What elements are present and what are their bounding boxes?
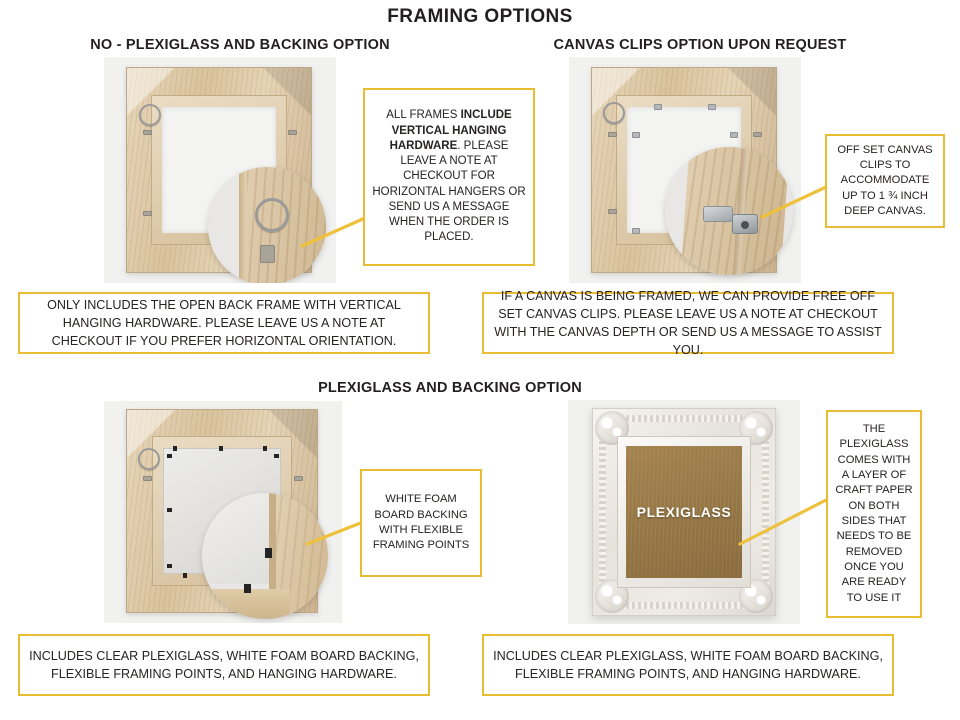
section-heading-no-plexiglass: NO - PLEXIGLASS AND BACKING OPTION (30, 37, 450, 53)
hardware-tab-icon (143, 476, 152, 481)
callout-white-foam-board: WHITE FOAM BOARD BACKING WITH FLEXIBLE F… (360, 469, 482, 577)
hardware-tab-icon (143, 211, 152, 216)
hardware-tab-icon (608, 132, 617, 137)
callout-lead-text: ALL FRAMES (386, 109, 460, 121)
summary-open-back-frame-text: ONLY INCLUDES THE OPEN BACK FRAME WITH V… (20, 292, 428, 355)
summary-plexiglass-right-text: INCLUDES CLEAR PLEXIGLASS, WHITE FOAM BO… (484, 643, 892, 688)
connector-line-craft-paper (738, 492, 838, 554)
page-title: FRAMING OPTIONS (0, 6, 960, 28)
screw-head-icon (741, 221, 749, 229)
summary-canvas-clips-text: IF A CANVAS IS BEING FRAMED, WE CAN PROV… (484, 283, 892, 364)
plexiglass-overlay-label: PLEXIGLASS (637, 504, 732, 520)
callout-craft-paper-text: THE PLEXIGLASS COMES WITH A LAYER OF CRA… (828, 418, 920, 610)
flexible-framing-point (167, 564, 172, 568)
callout-hanging-hardware-text: ALL FRAMES INCLUDE VERTICAL HANGING HARD… (365, 104, 533, 250)
flexible-framing-point-zoom (244, 584, 251, 593)
d-ring-hanger-zoom-icon (255, 198, 289, 232)
flexible-framing-point (263, 446, 267, 451)
hanger-plate-zoom-icon (260, 245, 275, 263)
hardware-tab-icon (288, 130, 297, 135)
flexible-framing-point (183, 573, 187, 578)
summary-canvas-clips: IF A CANVAS IS BEING FRAMED, WE CAN PROV… (482, 292, 894, 354)
summary-plexiglass-left: INCLUDES CLEAR PLEXIGLASS, WHITE FOAM BO… (18, 634, 430, 696)
plexiglass-craft-paper-panel: PLEXIGLASS (626, 446, 743, 578)
hardware-tab-icon (143, 130, 152, 135)
flexible-framing-point (173, 446, 177, 451)
canvas-clip-icon (654, 104, 662, 110)
summary-open-back-frame: ONLY INCLUDES THE OPEN BACK FRAME WITH V… (18, 292, 430, 354)
d-ring-hanger-icon (138, 448, 160, 470)
canvas-clip-icon (730, 132, 738, 138)
section-heading-plexiglass: PLEXIGLASS AND BACKING OPTION (230, 380, 670, 396)
d-ring-hanger-icon (603, 102, 625, 124)
canvas-clip-icon (632, 132, 640, 138)
callout-craft-paper: THE PLEXIGLASS COMES WITH A LAYER OF CRA… (826, 410, 922, 618)
flexible-framing-point (274, 454, 279, 458)
callout-hanging-hardware: ALL FRAMES INCLUDE VERTICAL HANGING HARD… (363, 88, 535, 266)
flexible-framing-point (167, 508, 172, 512)
callout-offset-canvas-clips-text: OFF SET CANVAS CLIPS TO ACCOMMODATE UP T… (827, 139, 943, 224)
flexible-framing-point (167, 454, 172, 458)
offset-canvas-clip-zoom-icon (703, 206, 733, 222)
hardware-tab-icon (753, 132, 762, 137)
hardware-tab-icon (608, 209, 617, 214)
hardware-tab-icon (294, 476, 303, 481)
d-ring-hanger-icon (139, 104, 161, 126)
section-heading-canvas-clips: CANVAS CLIPS OPTION UPON REQUEST (500, 37, 900, 53)
callout-rest-text: . PLEASE LEAVE A NOTE AT CHECKOUT FOR HO… (372, 140, 525, 244)
canvas-clips-frame-photo (569, 57, 801, 283)
canvas-clip-icon (708, 104, 716, 110)
callout-white-foam-board-text: WHITE FOAM BOARD BACKING WITH FLEXIBLE F… (362, 488, 480, 557)
flexible-framing-point (219, 446, 223, 451)
canvas-clip-icon (632, 228, 640, 234)
flexible-framing-point-zoom (265, 548, 272, 558)
callout-offset-canvas-clips: OFF SET CANVAS CLIPS TO ACCOMMODATE UP T… (825, 134, 945, 228)
summary-plexiglass-right: INCLUDES CLEAR PLEXIGLASS, WHITE FOAM BO… (482, 634, 894, 696)
framing-options-infographic: FRAMING OPTIONS NO - PLEXIGLASS AND BACK… (0, 0, 960, 720)
summary-plexiglass-left-text: INCLUDES CLEAR PLEXIGLASS, WHITE FOAM BO… (20, 643, 428, 688)
